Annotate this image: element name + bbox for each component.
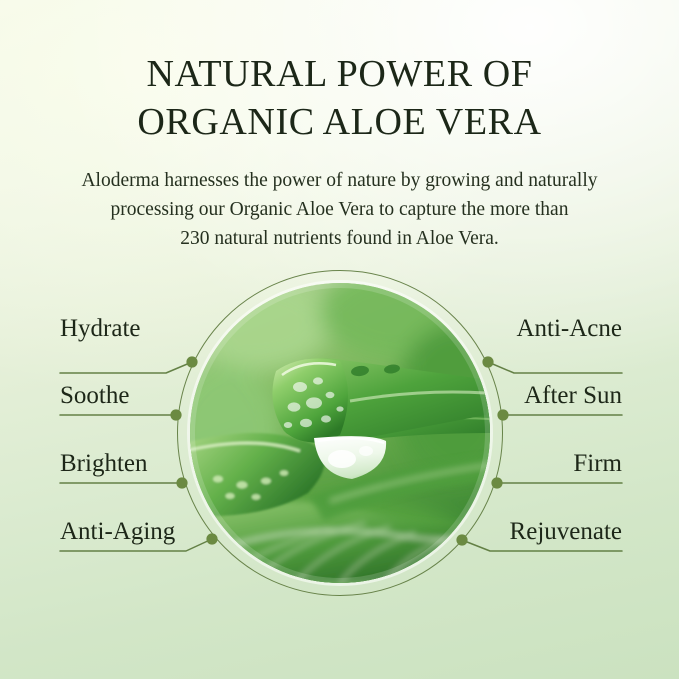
benefit-label-brighten[interactable]: Brighten	[60, 449, 148, 479]
connector-left-0	[60, 356, 198, 373]
connector-dot	[482, 356, 493, 367]
connector-right-0	[482, 356, 622, 373]
benefit-label-firm[interactable]: Firm	[573, 449, 622, 479]
benefit-label-after-sun[interactable]: After Sun	[524, 381, 622, 411]
connector-left-2	[60, 477, 188, 488]
benefit-label-hydrate[interactable]: Hydrate	[60, 314, 141, 344]
infographic-canvas: NATURAL POWER OF ORGANIC ALOE VERA Alode…	[0, 0, 679, 679]
connector-dot	[186, 356, 197, 367]
benefit-label-soothe[interactable]: Soothe	[60, 381, 129, 411]
benefit-label-anti-aging[interactable]: Anti-Aging	[60, 517, 175, 547]
connector-right-1	[497, 409, 622, 420]
connector-dot	[206, 533, 217, 544]
connector-dot	[176, 477, 187, 488]
connector-dot	[170, 409, 181, 420]
connector-right-2	[491, 477, 622, 488]
connector-dot	[456, 534, 467, 545]
connector-left-1	[60, 409, 182, 420]
benefit-label-rejuvenate[interactable]: Rejuvenate	[510, 517, 622, 547]
benefit-label-anti-acne[interactable]: Anti-Acne	[516, 314, 622, 344]
connector-dot	[491, 477, 502, 488]
connector-dot	[497, 409, 508, 420]
